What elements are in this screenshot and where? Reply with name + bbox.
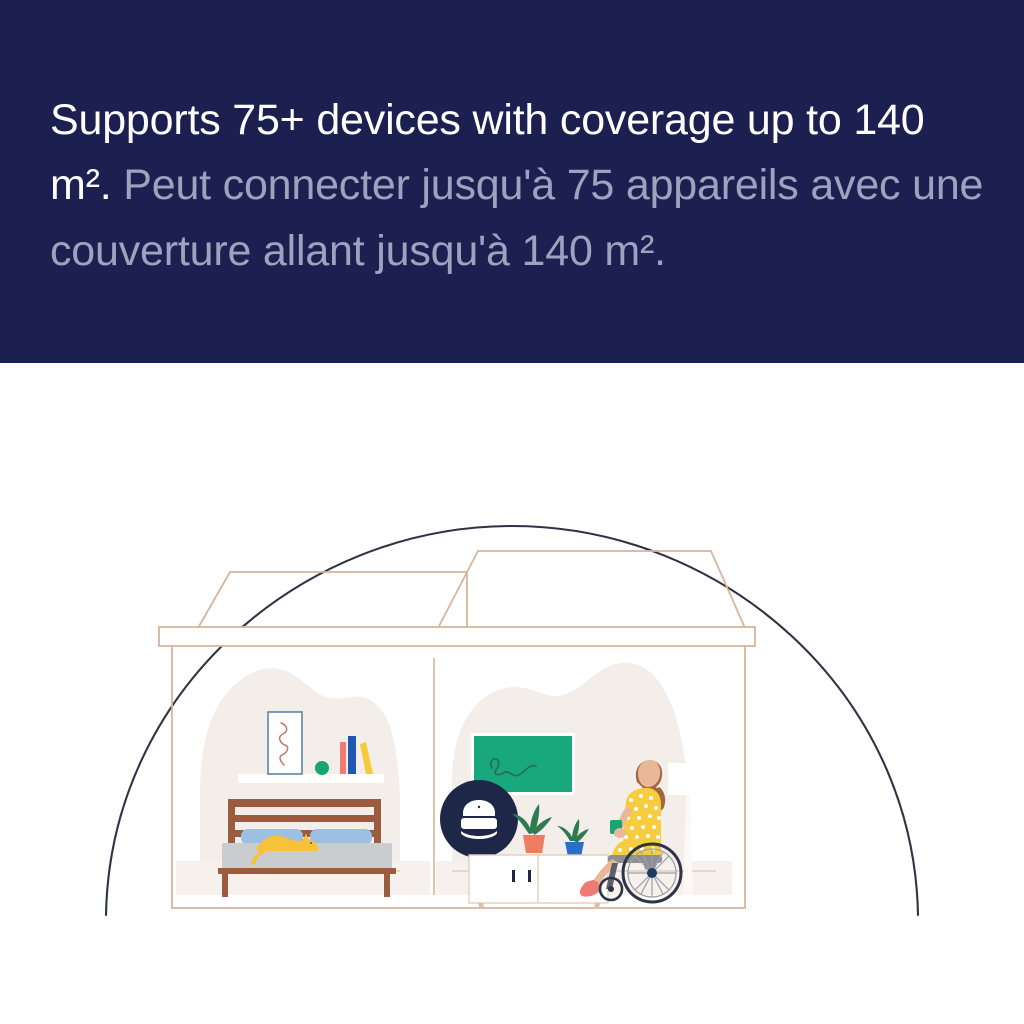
coverage-illustration [0,363,1024,1024]
bed-headboard-rail-top [228,799,381,807]
lamp-shade [668,763,712,795]
bedroom [176,668,430,897]
framed-picture [268,712,302,774]
cabinet-handle-right [528,870,531,882]
roof-beam [159,627,755,646]
bed-leg-right [384,872,390,897]
living-room [436,663,732,920]
roof-right-slope [438,551,745,628]
router-led [478,806,480,808]
bed-headboard-rail-mid [228,815,381,822]
wall-shelf [238,774,384,783]
bed-base-rail [218,868,396,874]
cabinet-leg-left [478,903,487,920]
headline-banner: Supports 75+ devices with coverage up to… [0,0,1024,363]
house-coverage-svg [0,363,1024,1024]
book-blue [348,736,356,774]
page-root: Supports 75+ devices with coverage up to… [0,0,1024,1024]
wifi-router-badge [440,780,518,858]
banner-copy: Supports 75+ devices with coverage up to… [50,88,985,284]
coral-pot [523,835,545,853]
hand [614,828,626,838]
green-ball [315,761,329,775]
cabinet-handle-left [512,870,515,882]
wheelchair-hub [647,868,657,878]
wheelchair-caster-hub [608,886,614,892]
cat-eye [310,842,312,844]
book-coral [340,742,346,774]
bed-leg-left [222,872,228,897]
house-roof [198,551,745,628]
roof-left-slope [198,572,467,628]
headline-french: Peut connecter jusqu'à 75 appareils avec… [50,161,983,274]
pillow-right [310,829,372,845]
cabinet-leg-right [592,903,600,920]
